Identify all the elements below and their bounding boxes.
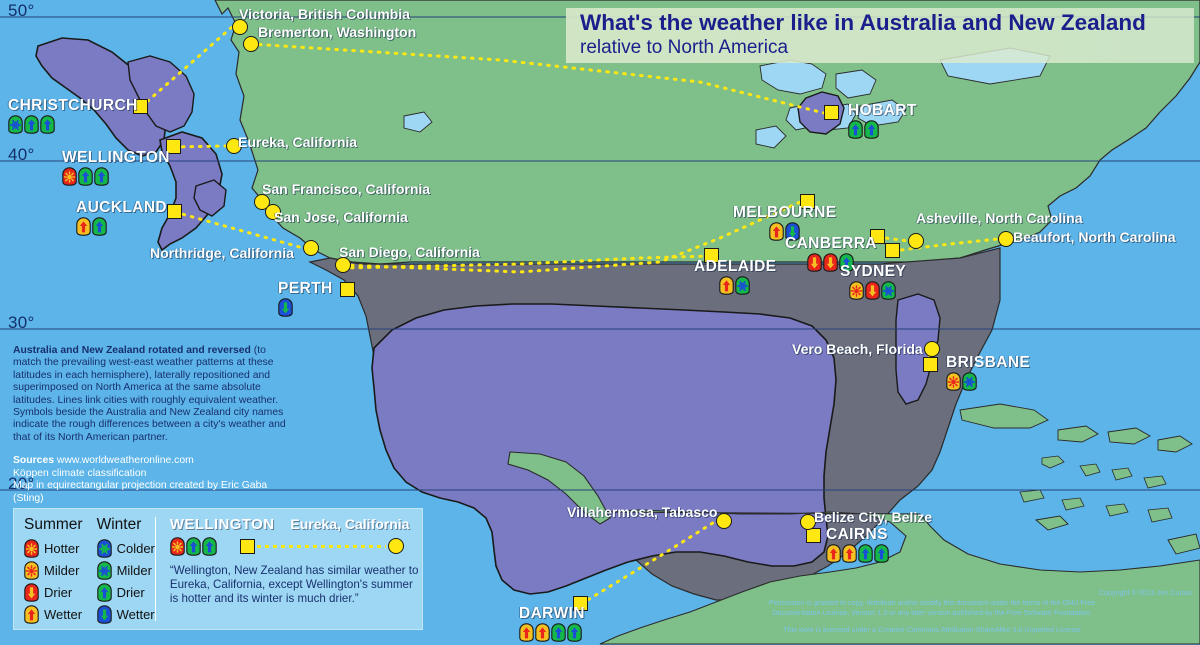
legend-summer-column: Summer Hotter Milder Drier Wet [14, 509, 83, 629]
summer-drier-icon [24, 583, 39, 602]
title-line-2: relative to North America [580, 36, 1194, 59]
na-city-san-diego-california[interactable]: San Diego, California [339, 244, 480, 260]
legend-row-winter-wetter: Wetter [97, 603, 155, 625]
summer-wetter-icon [719, 276, 734, 295]
marker-square-brisbane[interactable] [923, 357, 938, 372]
latitude-label-40: 40° [8, 145, 35, 165]
na-city-villahermosa-tabasco[interactable]: Villahermosa, Tabasco [567, 504, 717, 520]
marker-square-sydney[interactable] [885, 243, 900, 258]
anz-city-name-sydney: SYDNEY [840, 264, 906, 280]
legend-winter-heading: Winter [97, 516, 155, 534]
na-city-name-vero-beach-florida: Vero Beach, Florida [792, 341, 923, 357]
winter-drier-icon [97, 583, 112, 602]
na-city-name-belize-city-belize: Belize City, Belize [814, 509, 932, 525]
legend-row-summer-hotter: Hotter [24, 537, 83, 559]
summer-wetter-icon [519, 623, 534, 642]
anz-city-adelaide[interactable]: ADELAIDE [694, 259, 776, 295]
legend-example-quote: “Wellington, New Zealand has similar wea… [170, 564, 422, 607]
summer-drier-icon [865, 281, 880, 300]
summer-drier-icon [807, 253, 822, 272]
winter-milder-icon [97, 561, 112, 580]
winter-drier-icon [874, 544, 889, 563]
anz-city-christchurch[interactable]: CHRISTCHURCH [8, 98, 138, 134]
anz-city-symbols-christchurch [8, 115, 138, 134]
anz-city-symbols-sydney [840, 281, 906, 300]
anz-city-name-melbourne: MELBOURNE [733, 205, 837, 221]
legend-row-winter-milder: Milder [97, 559, 155, 581]
legend-label-summer-2: Drier [44, 585, 72, 600]
anz-city-name-canberra: CANBERRA [785, 236, 877, 252]
na-city-name-eureka-california: Eureka, California [238, 134, 357, 150]
sources-label: Sources [13, 455, 54, 466]
anz-city-name-auckland: AUCKLAND [76, 200, 167, 216]
winter-drier-icon [40, 115, 55, 134]
winter-drier-icon [202, 537, 217, 556]
na-city-victoria-british-columbia[interactable]: Victoria, British Columbia [239, 6, 410, 22]
legend-label-summer-1: Milder [44, 563, 79, 578]
marker-circle-asheville-north-carolina[interactable] [908, 233, 924, 249]
anz-city-symbols-wellington [62, 167, 170, 186]
sources-block: Sources www.worldweatheronline.com Köppe… [13, 455, 291, 505]
na-city-vero-beach-florida[interactable]: Vero Beach, Florida [792, 341, 923, 357]
anz-city-name-brisbane: BRISBANE [946, 355, 1030, 371]
latitude-label-50: 50° [8, 1, 35, 21]
legend-label-summer-3: Wetter [44, 607, 82, 622]
na-city-asheville-north-carolina[interactable]: Asheville, North Carolina [916, 210, 1082, 226]
legend-panel: Summer Hotter Milder Drier Wet [13, 508, 423, 630]
winter-drier-icon [858, 544, 873, 563]
summer-drier-icon [823, 253, 838, 272]
anz-city-symbols-adelaide [694, 276, 776, 295]
legend-circle-marker [388, 538, 404, 554]
legend-example-na-city: Eureka, California [290, 516, 409, 532]
summer-hotter-icon [62, 167, 77, 186]
legend-row-winter-colder: Colder [97, 537, 155, 559]
anz-city-symbols-cairns [826, 544, 890, 563]
anz-city-name-christchurch: CHRISTCHURCH [8, 98, 138, 114]
legend-row-winter-drier: Drier [97, 581, 155, 603]
anz-city-symbols-perth [278, 298, 333, 317]
na-city-eureka-california[interactable]: Eureka, California [238, 134, 357, 150]
anz-city-hobart[interactable]: HOBART [848, 103, 917, 139]
legend-label-winter-2: Drier [117, 585, 145, 600]
legend-row-summer-drier: Drier [24, 581, 83, 603]
anz-city-symbols-darwin [519, 623, 585, 642]
explanatory-paragraph-bold: Australia and New Zealand rotated and re… [13, 345, 251, 356]
marker-circle-bremerton-washington[interactable] [243, 36, 259, 52]
anz-city-brisbane[interactable]: BRISBANE [946, 355, 1030, 391]
anz-city-darwin[interactable]: DARWIN [519, 606, 585, 642]
na-city-name-asheville-north-carolina: Asheville, North Carolina [916, 210, 1082, 226]
legend-example-row [170, 535, 422, 557]
anz-city-auckland[interactable]: AUCKLAND [76, 200, 167, 236]
anz-city-name-wellington: WELLINGTON [62, 150, 170, 166]
summer-hotter-icon [170, 537, 185, 556]
winter-drier-icon [848, 120, 863, 139]
anz-city-name-adelaide: ADELAIDE [694, 259, 776, 275]
anz-city-name-cairns: CAIRNS [826, 527, 890, 543]
explanatory-paragraph: Australia and New Zealand rotated and re… [13, 345, 291, 444]
marker-circle-vero-beach-florida[interactable] [924, 341, 940, 357]
anz-city-symbols-auckland [76, 217, 167, 236]
explanatory-note: Australia and New Zealand rotated and re… [13, 345, 291, 506]
winter-drier-icon [78, 167, 93, 186]
na-city-belize-city-belize[interactable]: Belize City, Belize [814, 509, 932, 525]
winter-drier-icon [186, 537, 201, 556]
anz-city-name-darwin: DARWIN [519, 606, 585, 622]
na-city-northridge-california[interactable]: Northridge, California [150, 245, 294, 261]
winter-colder-icon [97, 539, 112, 558]
anz-city-name-hobart: HOBART [848, 103, 917, 119]
summer-milder-icon [849, 281, 864, 300]
legend-label-winter-3: Wetter [117, 607, 155, 622]
weather-comparison-map: 50° 40° 30° 20° What's the weather like … [0, 0, 1200, 645]
legend-label-winter-1: Milder [117, 563, 152, 578]
na-city-san-jose-california[interactable]: San Jose, California [274, 209, 408, 225]
summer-hotter-icon [24, 539, 39, 558]
winter-drier-icon [24, 115, 39, 134]
winter-milder-icon [8, 115, 23, 134]
marker-square-cairns[interactable] [806, 528, 821, 543]
anz-city-symbols-brisbane [946, 372, 1030, 391]
anz-city-sydney[interactable]: SYDNEY [840, 264, 906, 300]
legend-summer-heading: Summer [24, 516, 83, 534]
anz-city-name-perth: PERTH [278, 281, 333, 297]
winter-drier-icon [864, 120, 879, 139]
marker-square-perth[interactable] [340, 282, 355, 297]
anz-city-perth[interactable]: PERTH [278, 281, 333, 317]
copyright-line-2: Permission is granted to copy, distribut… [672, 598, 1192, 608]
na-city-beaufort-north-carolina[interactable]: Beaufort, North Carolina [1013, 229, 1176, 245]
anz-city-cairns[interactable]: CAIRNS [826, 527, 890, 563]
summer-wetter-icon [76, 217, 91, 236]
na-city-name-san-jose-california: San Jose, California [274, 209, 408, 225]
legend-example-column: WELLINGTON Eureka, California “Wellingto… [156, 509, 422, 629]
winter-drier-icon [94, 167, 109, 186]
winter-milder-icon [881, 281, 896, 300]
legend-example-symbols [170, 537, 218, 556]
winter-wetter-icon [97, 605, 112, 624]
marker-square-auckland[interactable] [167, 204, 182, 219]
winter-wetter-icon [278, 298, 293, 317]
summer-wetter-icon [24, 605, 39, 624]
winter-milder-icon [735, 276, 750, 295]
legend-example-names: WELLINGTON Eureka, California [170, 516, 422, 533]
anz-city-wellington[interactable]: WELLINGTON [62, 150, 170, 186]
legend-link-line [257, 545, 386, 548]
anz-city-symbols-hobart [848, 120, 917, 139]
legend-row-summer-wetter: Wetter [24, 603, 83, 625]
marker-circle-beaufort-north-carolina[interactable] [998, 231, 1014, 247]
summer-wetter-icon [769, 222, 784, 241]
na-city-name-san-francisco-california: San Francisco, California [262, 181, 430, 197]
link-wellington-eureka [174, 146, 226, 147]
legend-winter-column: Winter Colder Milder Drier Wet [83, 509, 155, 629]
title-line-1: What's the weather like in Australia and… [580, 10, 1194, 36]
winter-milder-icon [962, 372, 977, 391]
copyright-line-4: This work is licensed under a Creative C… [672, 625, 1192, 635]
copyright-block: Copyright © 2013 Jim Curran Permission i… [672, 588, 1192, 635]
summer-milder-icon [946, 372, 961, 391]
marker-square-hobart[interactable] [824, 105, 839, 120]
na-city-name-northridge-california: Northridge, California [150, 245, 294, 261]
copyright-line-1: Copyright © 2013 Jim Curran [672, 588, 1192, 598]
legend-example-anz-city: WELLINGTON [170, 516, 275, 533]
na-city-name-victoria-british-columbia: Victoria, British Columbia [239, 6, 410, 22]
explanatory-paragraph-rest: (to match the prevailing west-east weath… [13, 345, 286, 443]
source-line-3: Map in equirectangular projection create… [13, 480, 291, 505]
na-city-name-bremerton-washington: Bremerton, Washington [258, 24, 416, 40]
summer-wetter-icon [842, 544, 857, 563]
legend-label-summer-0: Hotter [44, 541, 79, 556]
na-city-bremerton-washington[interactable]: Bremerton, Washington [258, 24, 416, 40]
title-banner: What's the weather like in Australia and… [566, 8, 1194, 63]
latitude-label-30: 30° [8, 313, 35, 333]
summer-wetter-icon [535, 623, 550, 642]
na-city-name-beaufort-north-carolina: Beaufort, North Carolina [1013, 229, 1176, 245]
legend-row-summer-milder: Milder [24, 559, 83, 581]
copyright-line-3: Documentation License, Version 1.3 or an… [672, 608, 1192, 618]
na-city-name-villahermosa-tabasco: Villahermosa, Tabasco [567, 504, 717, 520]
marker-circle-northridge-california[interactable] [303, 240, 319, 256]
winter-drier-icon [567, 623, 582, 642]
summer-wetter-icon [826, 544, 841, 563]
summer-milder-icon [24, 561, 39, 580]
na-city-san-francisco-california[interactable]: San Francisco, California [262, 181, 430, 197]
source-line-2: Köppen climate classification [13, 468, 291, 481]
sources-value: www.worldweatheronline.com [54, 455, 194, 466]
legend-label-winter-0: Colder [117, 541, 155, 556]
winter-drier-icon [551, 623, 566, 642]
winter-drier-icon [92, 217, 107, 236]
marker-circle-villahermosa-tabasco[interactable] [716, 513, 732, 529]
legend-square-marker [240, 539, 255, 554]
na-city-name-san-diego-california: San Diego, California [339, 244, 480, 260]
